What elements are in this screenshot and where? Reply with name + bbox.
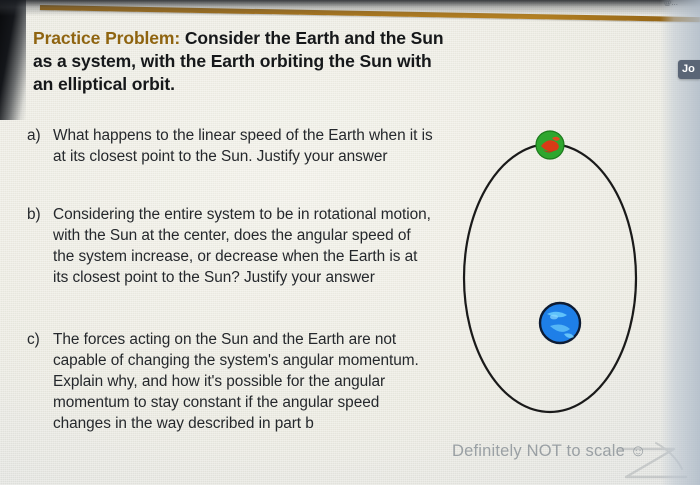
orbit-ellipse <box>464 144 636 412</box>
orbit-diagram <box>462 128 667 428</box>
account-handle-label: @… <box>664 0 698 8</box>
question-item-c: c) The forces acting on the Sun and the … <box>27 330 433 435</box>
question-label-a: a) <box>27 126 53 168</box>
question-item-a: a) What happens to the linear speed of t… <box>27 126 433 168</box>
orbiting-body-earth <box>536 131 564 159</box>
page-title-highlight: Practice Problem: <box>33 28 180 48</box>
question-label-b: b) <box>27 205 53 289</box>
page-title: Practice Problem: Consider the Earth and… <box>33 27 453 96</box>
scale-disclaimer-note: Definitely NOT to scale ☺ <box>452 442 647 461</box>
question-label-c: c) <box>27 330 53 435</box>
join-button[interactable]: Jo <box>678 60 700 79</box>
slide-screenshot: Practice Problem: Consider the Earth and… <box>0 0 700 485</box>
central-body-sun <box>540 303 580 343</box>
question-text-b: Considering the entire system to be in r… <box>53 205 433 289</box>
question-text-a: What happens to the linear speed of the … <box>53 126 433 168</box>
question-item-b: b) Considering the entire system to be i… <box>27 205 433 289</box>
question-text-c: The forces acting on the Sun and the Ear… <box>53 330 433 435</box>
